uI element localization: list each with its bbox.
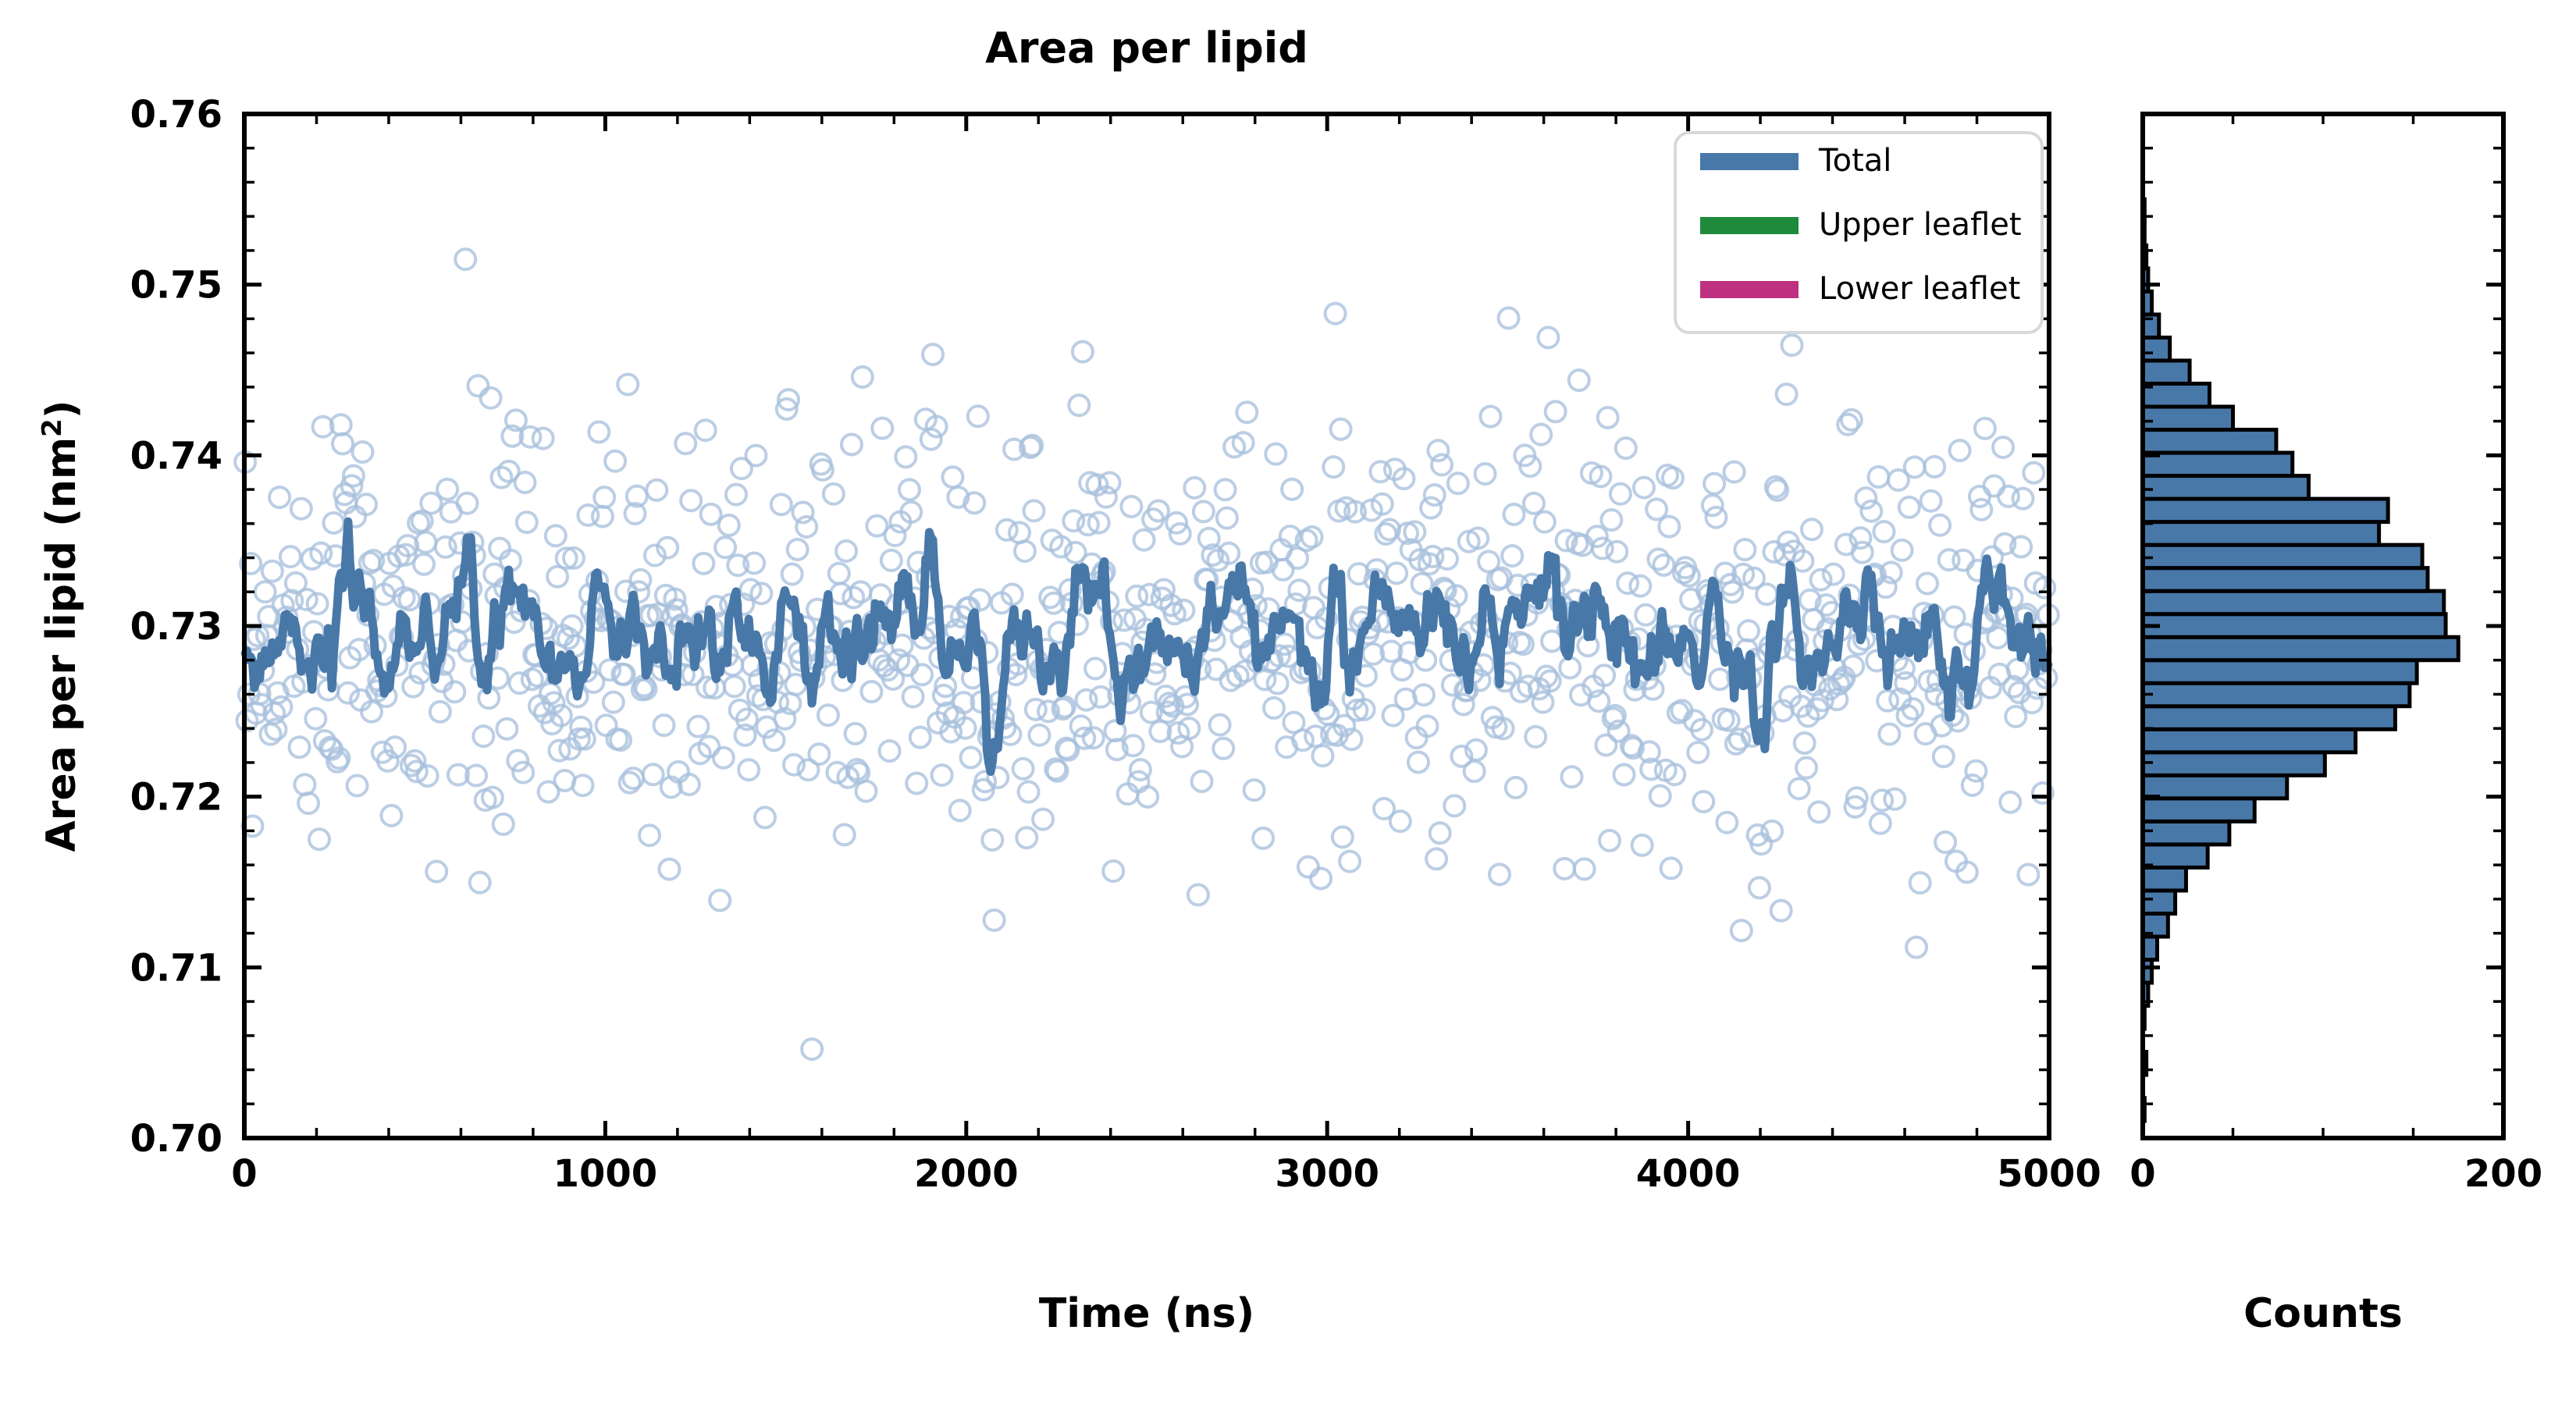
histogram-bar	[2143, 706, 2395, 730]
histogram-bar	[2143, 407, 2233, 430]
y-tick-label: 0.70	[130, 1117, 222, 1161]
x-tick-label: 5000	[1997, 1152, 2101, 1196]
legend-label-total: Total	[1818, 143, 1891, 179]
histogram-bar	[2143, 729, 2356, 752]
y-tick-label: 0.71	[130, 946, 222, 990]
figure-canvas: 010002000300040005000 0.700.710.720.730.…	[0, 0, 2576, 1405]
x-tick-label: 3000	[1275, 1152, 1379, 1196]
histogram-bar	[2143, 568, 2428, 592]
histogram-bar	[2143, 430, 2276, 454]
y-tick-label: 0.72	[130, 776, 222, 820]
histogram-bar	[2143, 683, 2410, 706]
histogram-bar	[2143, 752, 2325, 776]
histogram-bar	[2143, 821, 2229, 845]
histogram-bar	[2143, 775, 2287, 799]
histogram-bar	[2143, 614, 2446, 638]
y-tick-label: 0.75	[130, 264, 222, 308]
x-tick-label: 1000	[553, 1152, 658, 1196]
x-tick-label: 4000	[1636, 1152, 1741, 1196]
y-axis-label-suffix: )	[38, 400, 85, 418]
histogram-bar	[2143, 799, 2254, 822]
y-tick-label: 0.74	[130, 434, 222, 478]
page-title: Area per lipid	[985, 23, 1308, 73]
histogram-bar	[2143, 660, 2417, 684]
histogram-bar	[2143, 476, 2309, 500]
y-axis-label-superscript: 2	[37, 418, 68, 437]
legend-swatch-lower-leaflet	[1700, 281, 1799, 298]
x-axis-label: Time (ns)	[1039, 1290, 1254, 1337]
legend-swatch-upper-leaflet	[1700, 217, 1799, 234]
histogram-bar	[2143, 453, 2293, 476]
histogram-bar	[2143, 637, 2458, 660]
histogram-bar	[2143, 867, 2186, 891]
y-axis-label-main: Area per lipid (nm	[38, 437, 85, 852]
hist-x-tick-label: 200	[2464, 1152, 2542, 1196]
histogram-bar	[2143, 522, 2379, 546]
y-axis-label: Area per lipid (nm2)	[37, 400, 85, 852]
histogram-bar	[2143, 499, 2388, 522]
hist-x-tick-label: 0	[2129, 1152, 2155, 1196]
histogram-bar	[2143, 891, 2176, 914]
histogram-bar	[2143, 591, 2444, 614]
svg-text:Area per lipid (nm2): Area per lipid (nm2)	[37, 400, 85, 852]
x-tick-label: 2000	[914, 1152, 1019, 1196]
legend-label-upper-leaflet: Upper leaflet	[1819, 207, 2022, 243]
histogram-bar	[2143, 545, 2422, 568]
y-tick-label: 0.73	[130, 605, 222, 649]
histogram-bar	[2143, 361, 2190, 384]
histogram-x-axis-label: Counts	[2243, 1290, 2403, 1337]
legend-swatch-total	[1700, 153, 1799, 170]
plot-svg: 010002000300040005000 0.700.710.720.730.…	[0, 0, 2576, 1405]
legend[interactable]: Total Upper leaflet Lower leaflet	[1675, 133, 2042, 333]
y-tick-label: 0.76	[130, 93, 222, 137]
histogram-bar	[2143, 337, 2170, 361]
x-tick-label: 0	[231, 1152, 257, 1196]
legend-label-lower-leaflet: Lower leaflet	[1819, 271, 2020, 307]
